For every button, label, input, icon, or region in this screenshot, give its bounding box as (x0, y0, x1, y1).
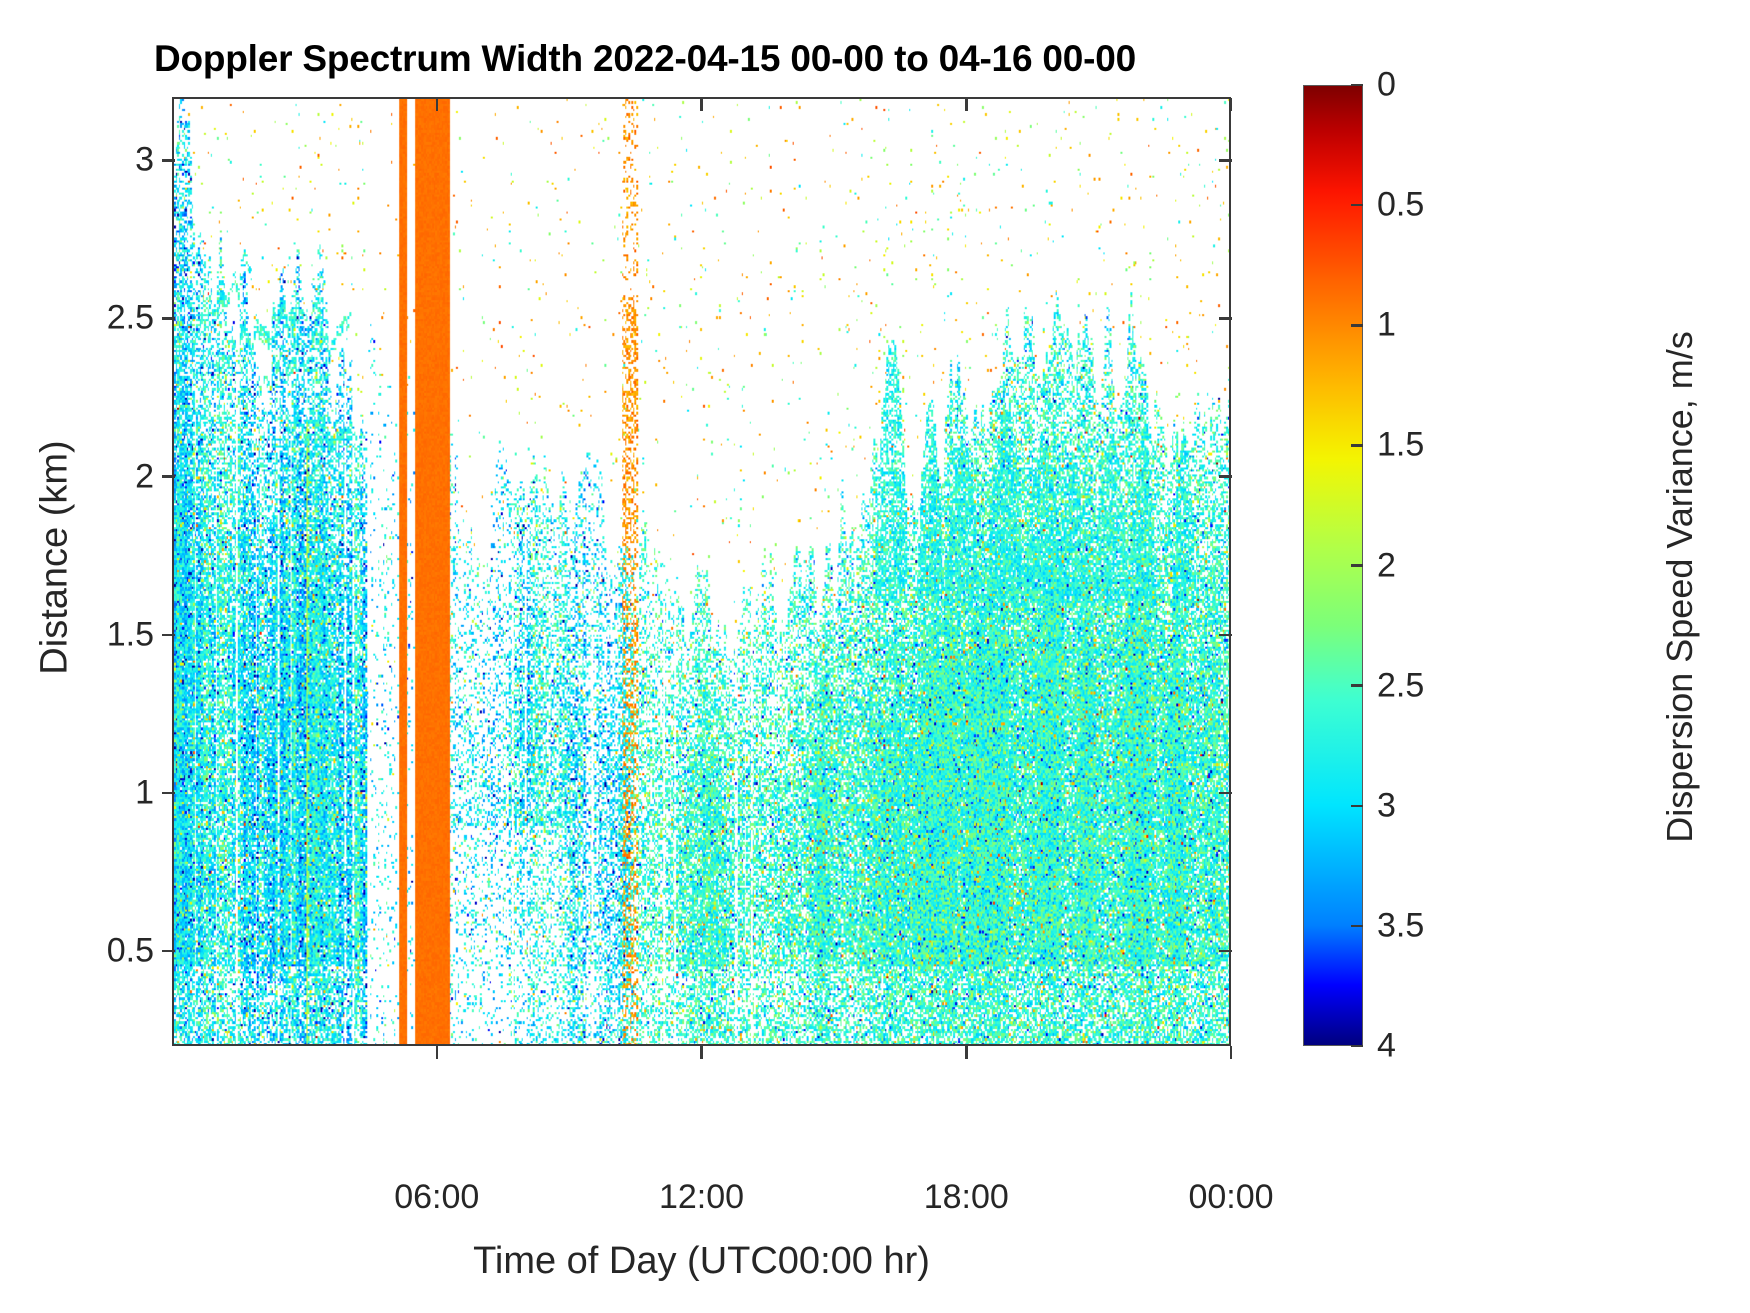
y-tick-label: 2.5 (107, 299, 154, 338)
y-axis-title: Distance (km) (34, 248, 77, 868)
x-tick-label: 00:00 (1188, 1178, 1273, 1217)
y-tick-right (1219, 317, 1232, 320)
x-tick (965, 1046, 968, 1059)
colorbar-tick (1351, 204, 1363, 207)
x-tick (1230, 1046, 1233, 1059)
y-tick (162, 950, 175, 953)
colorbar-tick (1351, 684, 1363, 687)
colorbar-tick (1351, 1045, 1363, 1048)
x-tick-top (965, 98, 968, 111)
colorbar-tick (1351, 324, 1363, 327)
x-tick-label: 06:00 (394, 1178, 479, 1217)
y-tick-label: 3 (135, 141, 154, 180)
y-tick-right (1219, 634, 1232, 637)
colorbar-tick-label: 0.5 (1377, 186, 1424, 225)
y-tick (162, 792, 175, 795)
x-axis-title: Time of Day (UTC00:00 hr) (172, 1240, 1231, 1283)
colorbar-tick (1351, 444, 1363, 447)
colorbar-tick (1351, 84, 1363, 87)
plot-area (172, 97, 1231, 1046)
y-tick (162, 634, 175, 637)
colorbar-tick-label: 0 (1377, 66, 1396, 105)
colorbar-tick-label: 2.5 (1377, 666, 1424, 705)
x-tick-top (700, 98, 703, 111)
colorbar-tick (1351, 564, 1363, 567)
figure-root: Doppler Spectrum Width 2022-04-15 00-00 … (0, 0, 1750, 1313)
colorbar-tick (1351, 925, 1363, 928)
colorbar-title: Dispersion Speed Variance, m/s (1659, 107, 1701, 1067)
y-tick-label: 1.5 (107, 615, 154, 654)
colorbar-tick-label: 2 (1377, 546, 1396, 585)
x-tick-label: 12:00 (659, 1178, 744, 1217)
colorbar-tick-label: 4 (1377, 1027, 1396, 1066)
y-tick-right (1219, 475, 1232, 478)
y-tick (162, 317, 175, 320)
x-tick-top (1230, 98, 1233, 111)
y-tick-right (1219, 950, 1232, 953)
colorbar-tick-label: 1.5 (1377, 426, 1424, 465)
colorbar-tick-label: 3 (1377, 786, 1396, 825)
colorbar-tick-label: 1 (1377, 306, 1396, 345)
heatmap-canvas (174, 99, 1229, 1044)
y-tick-label: 2 (135, 457, 154, 496)
x-tick (436, 1046, 439, 1059)
y-tick (162, 475, 175, 478)
colorbar-tick (1351, 805, 1363, 808)
x-tick (700, 1046, 703, 1059)
y-tick (162, 159, 175, 162)
y-tick-right (1219, 159, 1232, 162)
colorbar-tick-label: 3.5 (1377, 906, 1424, 945)
x-tick-label: 18:00 (924, 1178, 1009, 1217)
x-tick-top (436, 98, 439, 111)
chart-title: Doppler Spectrum Width 2022-04-15 00-00 … (0, 38, 1290, 80)
y-tick-label: 0.5 (107, 932, 154, 971)
y-tick-right (1219, 792, 1232, 795)
y-tick-label: 1 (135, 773, 154, 812)
